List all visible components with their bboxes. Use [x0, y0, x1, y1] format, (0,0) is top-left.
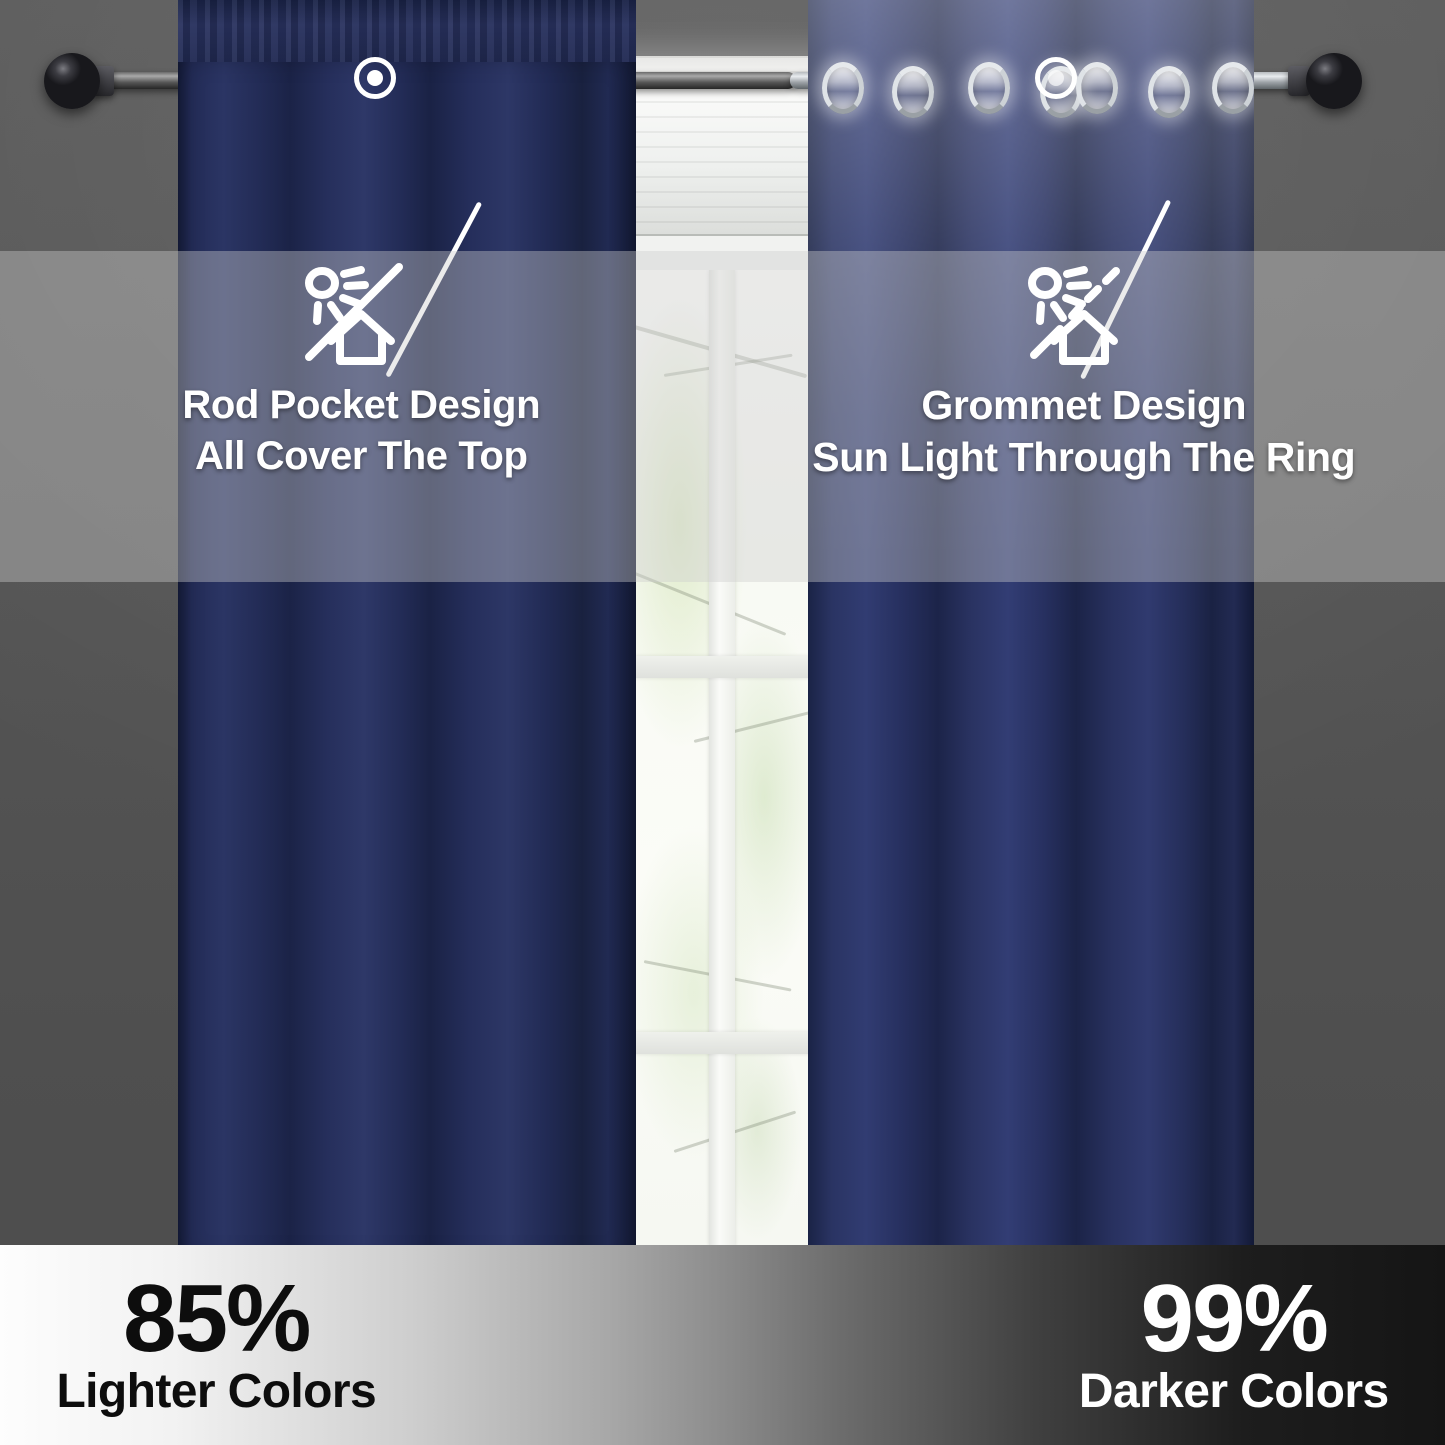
window-mullion-horizontal — [634, 1032, 810, 1054]
curtain-rod-finial-left — [44, 53, 100, 109]
feature-rod-pocket-title: Rod Pocket Design All Cover The Top — [182, 385, 540, 477]
grommet-top-wave-cutout — [808, 0, 1254, 40]
window-mullion-horizontal — [634, 656, 810, 678]
feature-rod-pocket: Rod Pocket Design All Cover The Top — [0, 251, 723, 582]
banner-lighter-label: Lighter Colors — [56, 1368, 376, 1416]
feature-grommet: Grommet Design Sun Light Through The Rin… — [723, 251, 1445, 582]
product-infographic: Rod Pocket Design All Cover The Top G — [0, 0, 1445, 1445]
curtain-fabric-right — [808, 0, 1254, 1246]
feature-band: Rod Pocket Design All Cover The Top G — [0, 251, 1445, 582]
grommet-ring — [1148, 66, 1190, 118]
sun-through-house-icon — [1018, 261, 1150, 371]
curtain-panel-grommet — [808, 0, 1254, 1246]
curtain-fabric-left — [178, 40, 636, 1246]
banner-darker-label: Darker Colors — [1079, 1368, 1389, 1416]
grommet-ring — [892, 66, 934, 118]
grommet-ring — [968, 62, 1010, 114]
feature-grommet-title: Grommet Design Sun Light Through The Rin… — [812, 385, 1355, 479]
feature-rod-pocket-line1: Rod Pocket Design — [182, 383, 540, 427]
grommet-ring — [1212, 62, 1254, 114]
blackout-percentage-banner: 85% Lighter Colors 99% Darker Colors — [0, 1245, 1445, 1445]
banner-darker-colors: 99% Darker Colors — [723, 1245, 1445, 1445]
feature-grommet-line1: Grommet Design — [921, 382, 1246, 428]
rod-pocket-top-scallop — [178, 0, 636, 16]
banner-darker-percent: 99% — [1141, 1274, 1327, 1364]
grommet-ring — [822, 62, 864, 114]
feature-grommet-line2: Sun Light Through The Ring — [812, 437, 1355, 479]
feature-rod-pocket-line2: All Cover The Top — [182, 436, 540, 477]
banner-lighter-percent: 85% — [123, 1274, 309, 1364]
banner-lighter-colors: 85% Lighter Colors — [0, 1245, 723, 1445]
window — [614, 56, 830, 1246]
grommet-ring — [1076, 62, 1118, 114]
curtain-rod-finial-right — [1306, 53, 1362, 109]
curtain-panel-rod-pocket — [178, 0, 636, 1246]
sun-blocked-house-icon — [295, 261, 427, 371]
